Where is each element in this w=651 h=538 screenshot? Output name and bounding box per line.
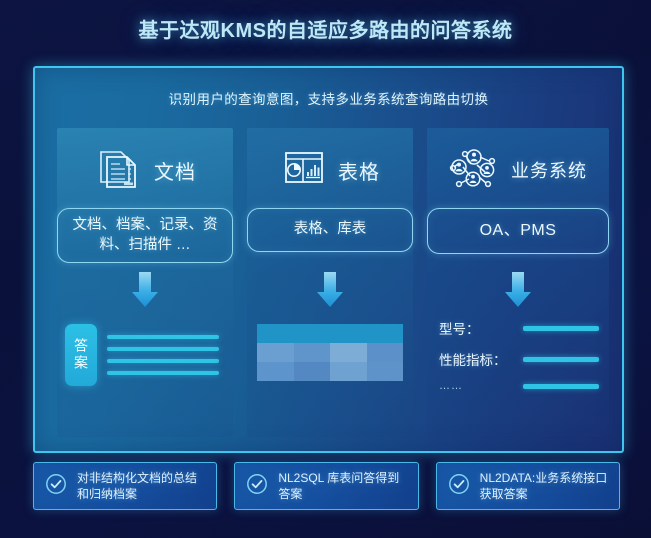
dashboard-chart-icon xyxy=(280,144,328,197)
column-table: 表格 表格、库表 xyxy=(247,128,413,437)
field-row: …… xyxy=(439,380,599,392)
table-header-row xyxy=(257,324,403,343)
field-label: 型号： xyxy=(439,318,517,338)
footer-card-nl2data[interactable]: NL2DATA:业务系统接口获取答案 xyxy=(436,462,620,510)
down-arrow-icon xyxy=(128,270,162,315)
network-people-icon xyxy=(449,143,501,198)
check-circle-icon xyxy=(245,472,269,501)
footer-cards: 对非结构化文档的总结和归纳档案 NL2SQL 库表问答得到答案 NL2DATA:… xyxy=(33,462,620,510)
field-row: 性能指标： xyxy=(439,349,599,369)
table-row xyxy=(257,343,403,362)
table-row xyxy=(257,362,403,381)
down-arrow-icon xyxy=(313,270,347,315)
column-table-title: 表格 xyxy=(338,156,380,185)
answer-line xyxy=(107,371,219,375)
field-label: …… xyxy=(439,380,517,392)
column-document-header: 文档 xyxy=(57,128,233,208)
down-arrow-icon xyxy=(501,270,535,315)
column-document-tag: 文档、档案、记录、资料、扫描件 … xyxy=(57,208,233,263)
column-table-result xyxy=(257,324,403,381)
field-value-bar xyxy=(523,384,599,389)
result-table xyxy=(257,324,403,381)
footer-card-text: NL2DATA:业务系统接口获取答案 xyxy=(480,470,609,502)
answer-line xyxy=(107,347,219,351)
main-diagram-panel: 识别用户的查询意图，支持多业务系统查询路由切换 xyxy=(33,66,624,453)
field-value-bar xyxy=(523,357,599,362)
answer-badge: 答案 xyxy=(65,324,97,386)
answer-line xyxy=(107,335,219,339)
column-business-system-title: 业务系统 xyxy=(511,157,587,183)
answer-line xyxy=(107,359,219,363)
check-circle-icon xyxy=(44,472,68,501)
field-value-bar xyxy=(523,326,599,331)
check-circle-icon xyxy=(447,472,471,501)
footer-card-text: NL2SQL 库表问答得到答案 xyxy=(278,470,407,502)
footer-card-text: 对非结构化文档的总结和归纳档案 xyxy=(77,470,206,502)
page-title: 基于达观KMS的自适应多路由的问答系统 xyxy=(0,14,651,43)
column-document-result: 答案 xyxy=(65,324,225,386)
footer-card-unstructured-doc[interactable]: 对非结构化文档的总结和归纳档案 xyxy=(33,462,217,510)
columns-container: 文档 文档、档案、记录、资料、扫描件 … xyxy=(57,128,602,437)
field-row: 型号： xyxy=(439,318,599,338)
column-table-header: 表格 xyxy=(247,128,413,208)
column-business-system-result: 型号： 性能指标： …… xyxy=(439,318,599,392)
column-business-system-header: 业务系统 xyxy=(427,128,609,208)
column-business-system: 业务系统 OA、PMS xyxy=(427,128,609,437)
footer-card-nl2sql[interactable]: NL2SQL 库表问答得到答案 xyxy=(234,462,418,510)
slide-background: 基于达观KMS的自适应多路由的问答系统 识别用户的查询意图，支持多业务系统查询路… xyxy=(0,0,651,538)
column-document: 文档 文档、档案、记录、资料、扫描件 … xyxy=(57,128,233,437)
column-table-tag: 表格、库表 xyxy=(247,208,413,252)
panel-subtitle: 识别用户的查询意图，支持多业务系统查询路由切换 xyxy=(35,88,622,108)
answer-lines xyxy=(107,335,225,375)
column-business-system-tag: OA、PMS xyxy=(427,208,609,254)
column-document-title: 文档 xyxy=(154,156,196,185)
field-label: 性能指标： xyxy=(439,349,517,369)
document-icon xyxy=(94,143,144,198)
